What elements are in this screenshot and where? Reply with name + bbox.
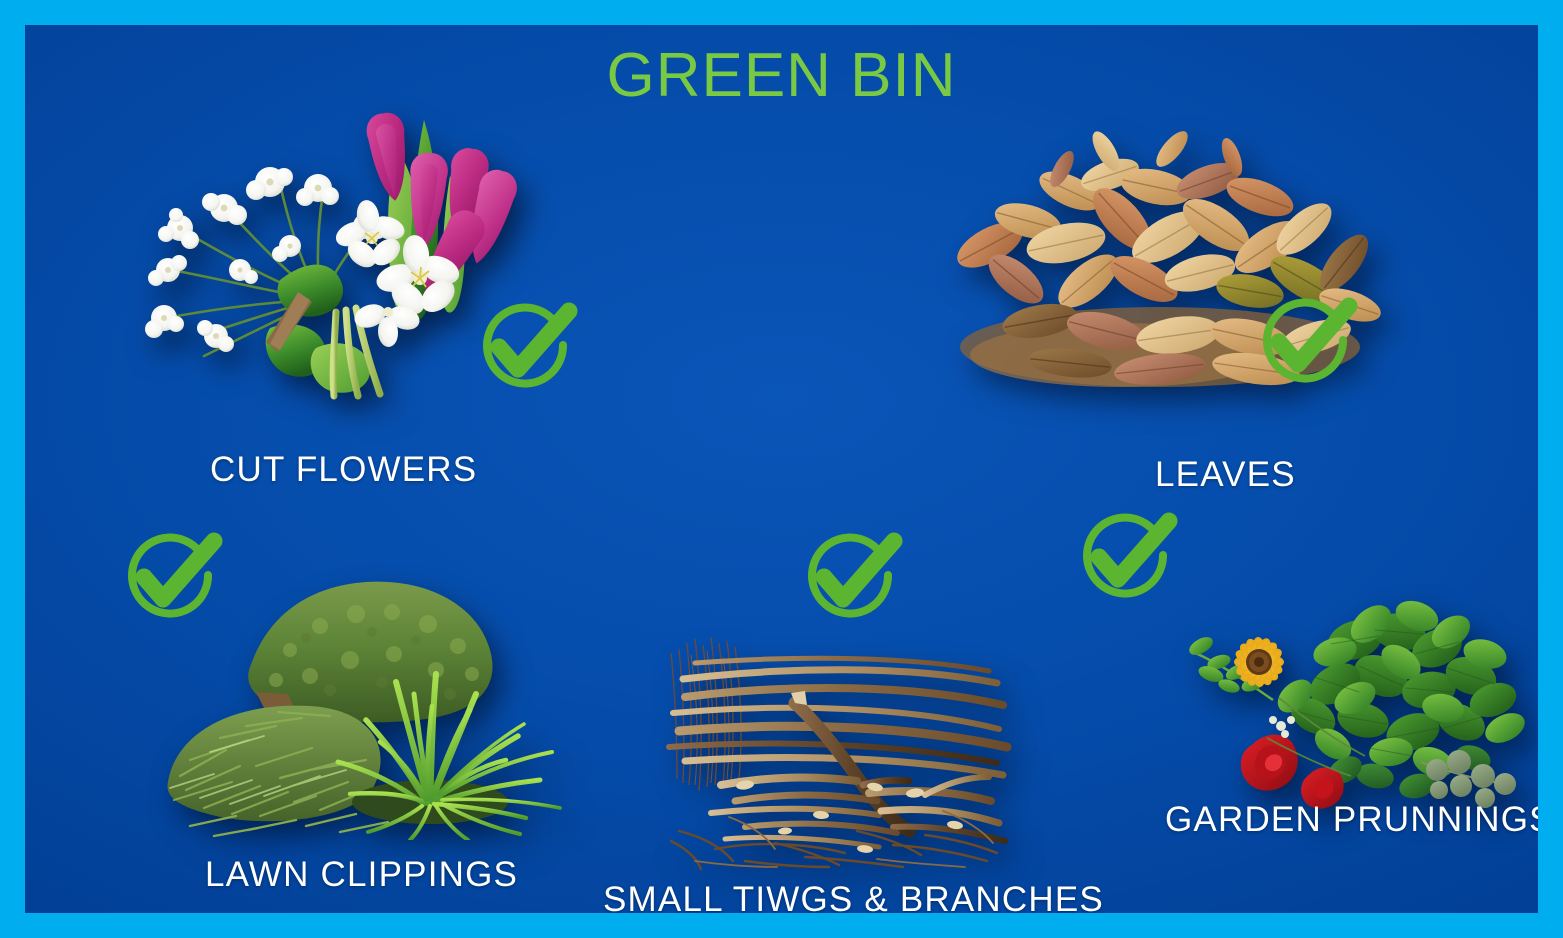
item-cut-flowers: CUT FLOWERS [120, 80, 590, 480]
item-small-twigs-branches: SMALL TIWGS & BRANCHES [585, 505, 1085, 913]
item-label-garden-prunings: GARDEN PRUNNINGS [1165, 800, 1538, 840]
item-garden-prunings: GARDEN PRUNNINGS [1045, 490, 1538, 870]
check-circle-icon [475, 295, 575, 395]
green-bin-poster: GREEN BIN [0, 0, 1563, 938]
item-label-small-twigs-branches: SMALL TIWGS & BRANCHES [603, 880, 1104, 913]
small-twigs-branches-image [625, 635, 1025, 870]
item-label-lawn-clippings: LAWN CLIPPINGS [205, 855, 518, 895]
check-circle-icon [1255, 290, 1355, 390]
check-circle-icon [1075, 505, 1175, 605]
item-label-leaves: LEAVES [1155, 455, 1296, 495]
lawn-clippings-image [160, 570, 590, 840]
poster-panel: GREEN BIN [25, 25, 1538, 913]
item-label-cut-flowers: CUT FLOWERS [210, 450, 477, 490]
item-leaves: {} [920, 115, 1520, 485]
garden-prunings-image [1185, 580, 1525, 810]
item-lawn-clippings: LAWN CLIPPINGS [100, 525, 600, 905]
check-circle-icon [800, 525, 900, 625]
check-circle-icon [120, 525, 220, 625]
